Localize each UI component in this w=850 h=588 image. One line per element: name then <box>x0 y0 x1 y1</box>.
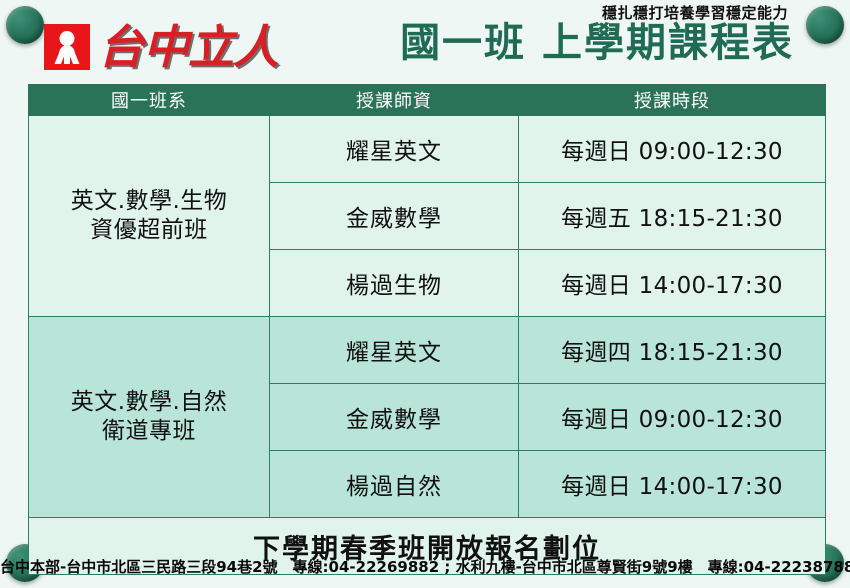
teacher-cell: 金威數學 <box>270 183 519 250</box>
table-row: 英文.數學.生物 資優超前班 耀星英文 每週日 09:00-12:30 <box>29 116 826 183</box>
teacher-cell: 金威數學 <box>270 384 519 451</box>
page-header: 台中立人 穩扎穩打培養學習穩定能力 國一班 上學期課程表 <box>0 0 850 84</box>
column-header-teacher: 授課師資 <box>270 85 519 116</box>
teacher-cell: 耀星英文 <box>270 116 519 183</box>
address-bar: 台中本部-台中市北區三民路三段94巷2號 專線:04-22269882 ; 水利… <box>0 556 850 577</box>
time-cell: 每週四 18:15-21:30 <box>519 317 826 384</box>
time-cell: 每週五 18:15-21:30 <box>519 183 826 250</box>
table-header: 國一班系 授課師資 授課時段 <box>29 85 826 116</box>
column-header-time: 授課時段 <box>519 85 826 116</box>
class-name-line2: 資優超前班 <box>90 217 208 243</box>
person-figure-head <box>60 31 75 46</box>
brand-logo: 台中立人 <box>44 24 278 70</box>
time-cell: 每週日 09:00-12:30 <box>519 384 826 451</box>
person-figure-icon <box>44 24 90 70</box>
header-row: 國一班系 授課師資 授課時段 <box>29 85 826 116</box>
class-name-line2: 衛道專班 <box>102 418 196 444</box>
teacher-cell: 楊過自然 <box>270 451 519 518</box>
time-cell: 每週日 09:00-12:30 <box>519 116 826 183</box>
person-figure-body <box>54 45 81 64</box>
class-name-line1: 英文.數學.自然 <box>71 389 228 415</box>
column-header-class: 國一班系 <box>29 85 270 116</box>
title-block: 穩扎穩打培養學習穩定能力 國一班 上學期課程表 <box>400 2 794 64</box>
time-cell: 每週日 14:00-17:30 <box>519 250 826 317</box>
brand-name: 台中立人 <box>98 24 278 70</box>
time-cell: 每週日 14:00-17:30 <box>519 451 826 518</box>
table-body: 英文.數學.生物 資優超前班 耀星英文 每週日 09:00-12:30 金威數學… <box>29 116 826 575</box>
class-name-line1: 英文.數學.生物 <box>71 188 228 214</box>
teacher-cell: 耀星英文 <box>270 317 519 384</box>
teacher-cell: 楊過生物 <box>270 250 519 317</box>
schedule-table: 國一班系 授課師資 授課時段 英文.數學.生物 資優超前班 耀星英文 每週日 0… <box>28 84 826 575</box>
class-name-cell-group-a: 英文.數學.生物 資優超前班 <box>29 116 270 317</box>
class-name-cell-group-b: 英文.數學.自然 衛道專班 <box>29 317 270 518</box>
page-title: 國一班 上學期課程表 <box>400 22 794 64</box>
table-row: 英文.數學.自然 衛道專班 耀星英文 每週四 18:15-21:30 <box>29 317 826 384</box>
